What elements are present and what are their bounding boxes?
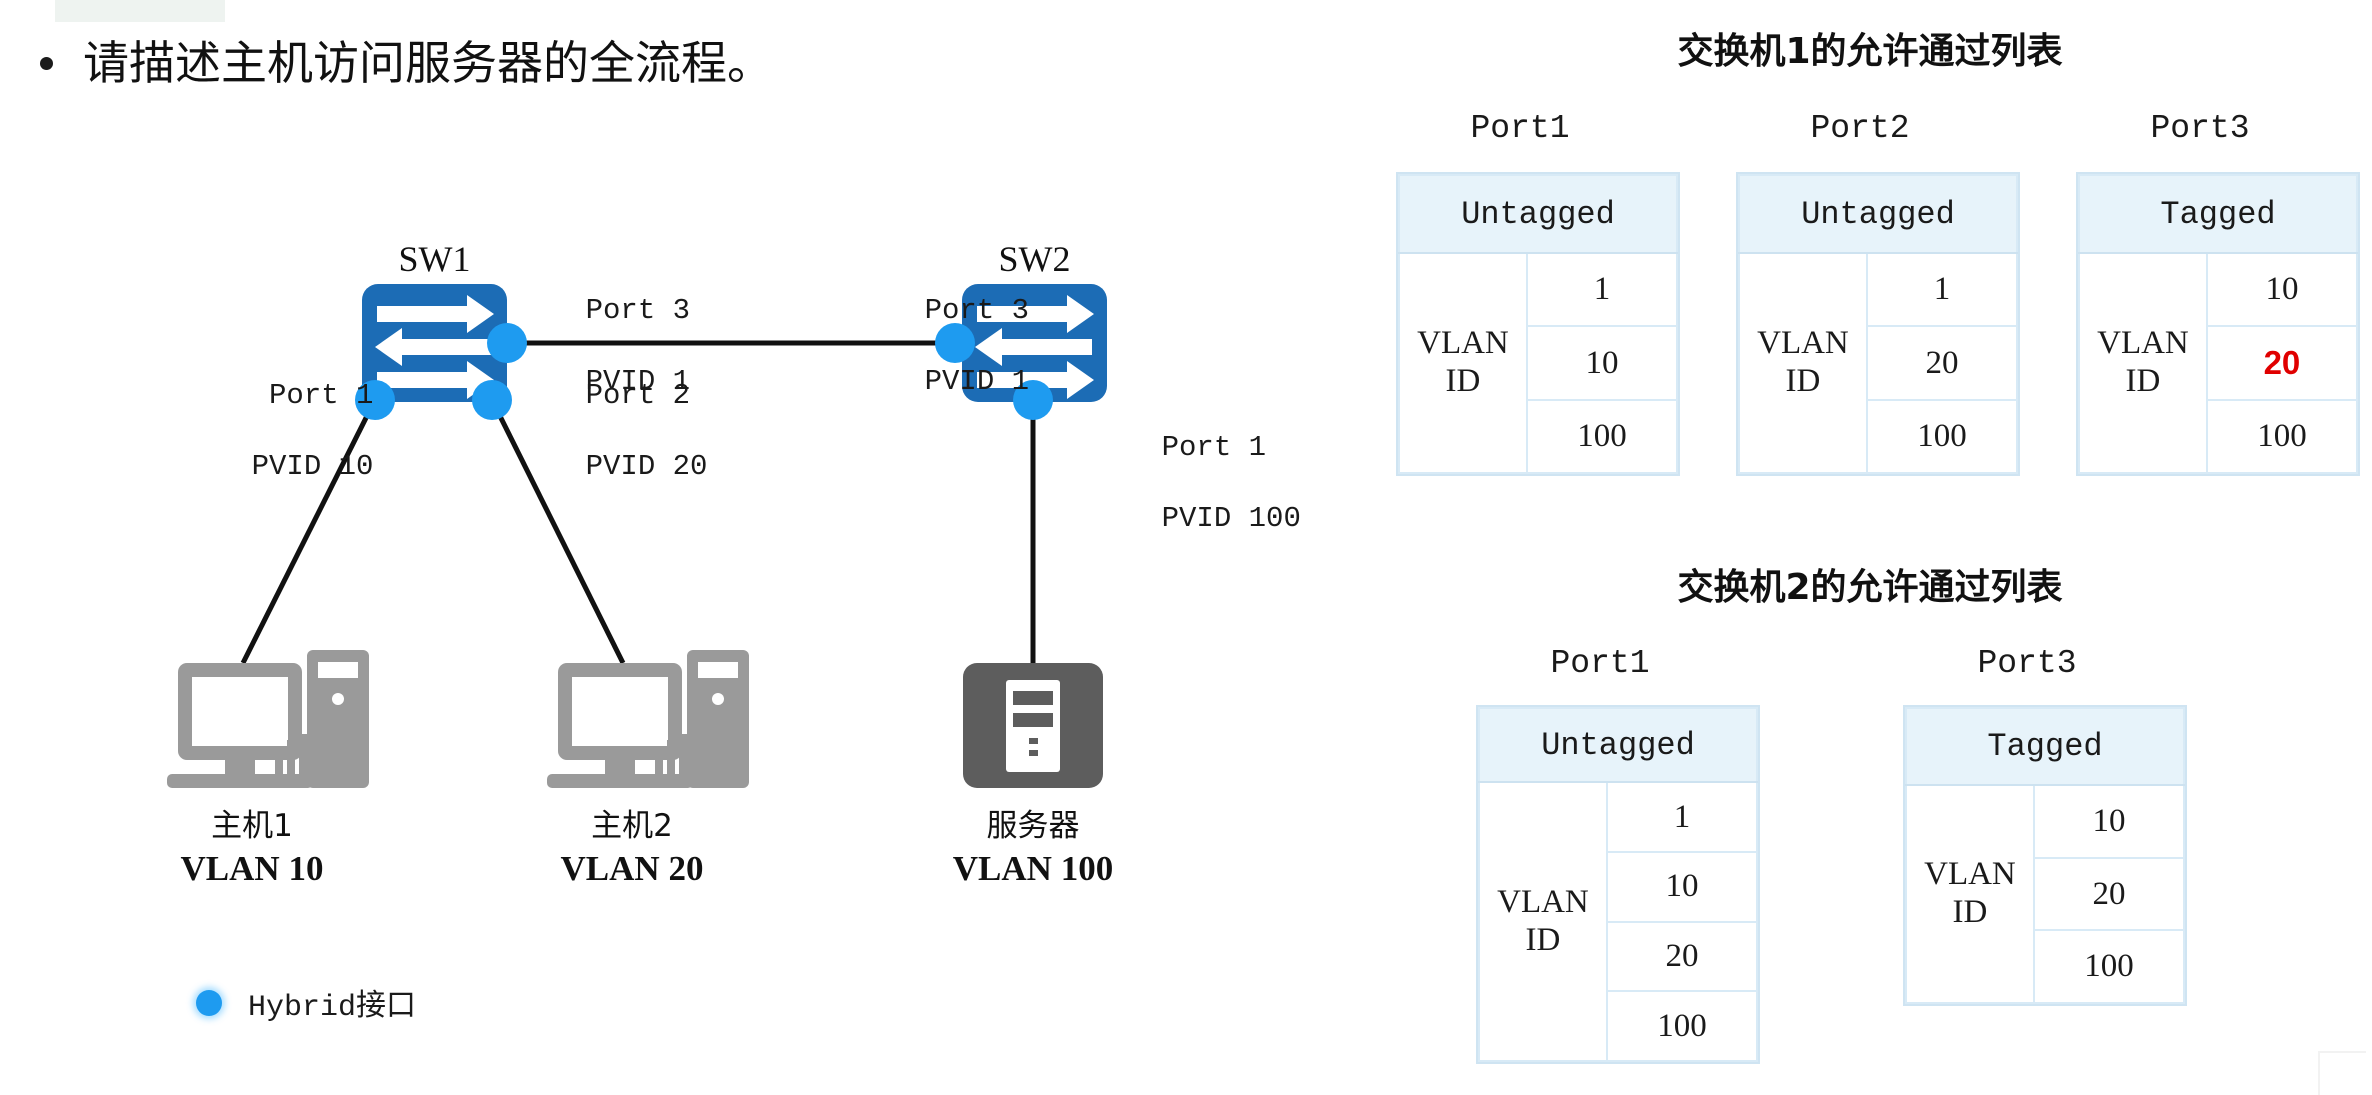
sw2-port1-table-title: Port1	[1460, 645, 1740, 682]
server-icon	[963, 663, 1103, 788]
switch1-tables-title: 交换机1的允许通过列表	[1560, 22, 2180, 74]
sw1-port3-row-label: VLANID	[2079, 253, 2207, 473]
host2-caption: 主机2 VLAN 20	[518, 800, 746, 889]
sw2-port3-mode: Tagged	[1906, 708, 2184, 785]
sw2-port3-vlan-2: 100	[2034, 930, 2184, 1003]
sw1-port1-vlan-0: 1	[1527, 253, 1677, 326]
sw1-port2-dot	[472, 380, 512, 420]
question-text: 请描述主机访问服务器的全流程。	[83, 40, 773, 86]
server-caption: 服务器 VLAN 100	[919, 800, 1147, 889]
sw1-port1-line2: PVID 10	[252, 450, 374, 483]
sw2-port1-vlan-0: 1	[1607, 782, 1757, 852]
sw2-port1-label: Port 1 PVID 100	[1092, 395, 1301, 572]
sw1-port2-table: Untagged VLANID 1 20 100	[1736, 172, 2020, 476]
sw1-port1-mode: Untagged	[1399, 175, 1677, 253]
sw1-port2-line1: Port 2	[586, 379, 690, 412]
sw2-port1-vlan-3: 100	[1607, 991, 1757, 1061]
sw1-port2-vlan-0: 1	[1867, 253, 2017, 326]
sw2-port1-row-label: VLANID	[1479, 782, 1607, 1061]
sw1-port3-line1: Port 3	[586, 294, 690, 327]
sw1-port3-vlan-0: 10	[2207, 253, 2357, 326]
sw1-port2-row-label: VLANID	[1739, 253, 1867, 473]
sw1-port2-line2: PVID 20	[586, 450, 708, 483]
sw1-name-label: SW1	[362, 238, 507, 280]
network-topology-diagram: SW1 SW2 Port 3 PVID 1 Port 1 PVID 10 Por…	[0, 110, 1380, 1095]
server-vlan: VLAN 100	[919, 849, 1147, 889]
server-name: 服务器	[919, 800, 1147, 845]
sw1-port3-vlan-1: 20	[2207, 326, 2357, 399]
host2-name: 主机2	[518, 800, 746, 845]
host2-vlan: VLAN 20	[518, 849, 746, 889]
sw1-port2-label: Port 2 PVID 20	[516, 343, 707, 520]
host1-name: 主机1	[138, 800, 366, 845]
sw1-port3-table: Tagged VLANID 10 20 100	[2076, 172, 2360, 476]
sw1-port3-mode: Tagged	[2079, 175, 2357, 253]
sw1-port1-table: Untagged VLANID 1 10 100	[1396, 172, 1680, 476]
sw1-port3-table-title: Port3	[2060, 110, 2340, 147]
host2-pc-icon	[547, 650, 749, 788]
switch2-tables-title: 交换机2的允许通过列表	[1560, 558, 2180, 610]
vlan-allow-lists-pane: 交换机1的允许通过列表 Port1 Untagged VLANID 1 10 1…	[1380, 0, 2372, 1095]
top-watermark-strip	[55, 0, 225, 22]
sw1-port2-vlan-1: 20	[1867, 326, 2017, 399]
sw1-port2-vlan-2: 100	[1867, 400, 2017, 473]
host1-pc-icon	[167, 650, 369, 788]
sw2-port3-line2: PVID 1	[925, 365, 1029, 398]
sw2-port3-line1: Port 3	[925, 294, 1029, 327]
sw1-port1-vlan-1: 10	[1527, 326, 1677, 399]
sw2-port1-line2: PVID 100	[1162, 502, 1301, 535]
sw2-port3-label: Port 3 PVID 1	[855, 258, 1029, 435]
sw2-port1-line1: Port 1	[1162, 431, 1266, 464]
sw2-port3-table: Tagged VLANID 10 20 100	[1903, 705, 2187, 1006]
sw2-port3-vlan-1: 20	[2034, 858, 2184, 931]
sw2-port3-vlan-0: 10	[2034, 785, 2184, 858]
sw2-port1-table: Untagged VLANID 1 10 20 100	[1476, 705, 1760, 1064]
corner-mark	[2318, 1051, 2366, 1095]
hybrid-port-dot-icon	[196, 990, 222, 1016]
sw1-port2-table-title: Port2	[1720, 110, 2000, 147]
legend-label: Hybrid接口	[248, 980, 416, 1025]
sw2-port3-table-title: Port3	[1887, 645, 2167, 682]
question-row: 请描述主机访问服务器的全流程。	[40, 28, 1340, 98]
sw2-port1-vlan-2: 20	[1607, 922, 1757, 992]
sw1-port1-table-title: Port1	[1380, 110, 1660, 147]
sw1-port1-vlan-2: 100	[1527, 400, 1677, 473]
bullet-icon	[40, 57, 53, 70]
sw1-port1-line1: Port 1	[269, 379, 373, 412]
sw1-port2-mode: Untagged	[1739, 175, 2017, 253]
sw1-port1-label: Port 1 PVID 10	[182, 343, 373, 520]
host1-vlan: VLAN 10	[138, 849, 366, 889]
sw2-port3-row-label: VLANID	[1906, 785, 2034, 1003]
sw1-port3-vlan-2: 100	[2207, 400, 2357, 473]
legend: Hybrid接口	[196, 980, 416, 1025]
sw1-port1-row-label: VLANID	[1399, 253, 1527, 473]
sw2-port1-vlan-1: 10	[1607, 852, 1757, 922]
host1-caption: 主机1 VLAN 10	[138, 800, 366, 889]
sw2-port1-mode: Untagged	[1479, 708, 1757, 782]
